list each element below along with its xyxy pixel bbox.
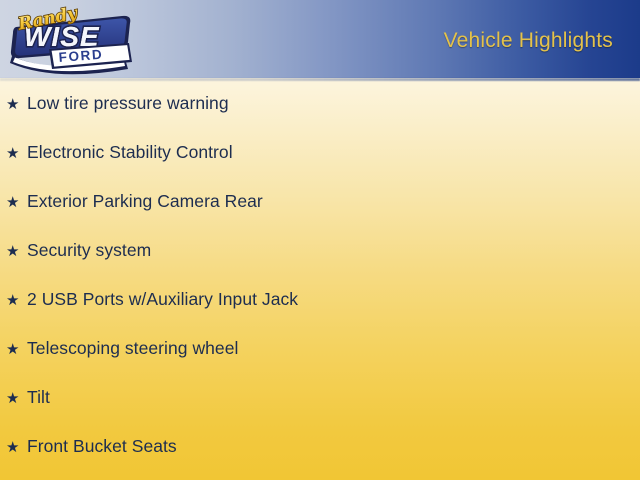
highlight-label: Electronic Stability Control bbox=[27, 144, 233, 162]
star-icon: ★ bbox=[6, 391, 27, 406]
list-item: ★ Security system bbox=[0, 242, 640, 291]
highlight-label: Low tire pressure warning bbox=[27, 95, 229, 113]
highlight-label: Security system bbox=[27, 242, 151, 260]
list-item: ★ 2 USB Ports w/Auxiliary Input Jack bbox=[0, 291, 640, 340]
star-icon: ★ bbox=[6, 342, 27, 357]
star-icon: ★ bbox=[6, 195, 27, 210]
star-icon: ★ bbox=[6, 146, 27, 161]
list-item: ★ Telescoping steering wheel bbox=[0, 340, 640, 389]
star-icon: ★ bbox=[6, 440, 27, 455]
list-item: ★ Tilt bbox=[0, 389, 640, 438]
highlight-label: Telescoping steering wheel bbox=[27, 340, 238, 358]
star-icon: ★ bbox=[6, 97, 27, 112]
highlight-label: Front Bucket Seats bbox=[27, 438, 177, 456]
list-item: ★ Low tire pressure warning bbox=[0, 95, 640, 144]
page-title: Vehicle Highlights bbox=[444, 29, 613, 53]
vehicle-highlights-slide: Vehicle Highlights bbox=[0, 0, 640, 480]
list-item: ★ Exterior Parking Camera Rear bbox=[0, 193, 640, 242]
highlight-label: Tilt bbox=[27, 389, 50, 407]
highlight-label: 2 USB Ports w/Auxiliary Input Jack bbox=[27, 291, 298, 309]
dealer-logo: WISE WISE FORD Randy bbox=[2, 0, 138, 82]
highlight-label: Exterior Parking Camera Rear bbox=[27, 193, 263, 211]
vehicle-highlights-list: ★ Low tire pressure warning ★ Electronic… bbox=[0, 78, 640, 480]
star-icon: ★ bbox=[6, 293, 27, 308]
list-item: ★ Electronic Stability Control bbox=[0, 144, 640, 193]
star-icon: ★ bbox=[6, 244, 27, 259]
list-item: ★ Front Bucket Seats bbox=[0, 438, 640, 480]
